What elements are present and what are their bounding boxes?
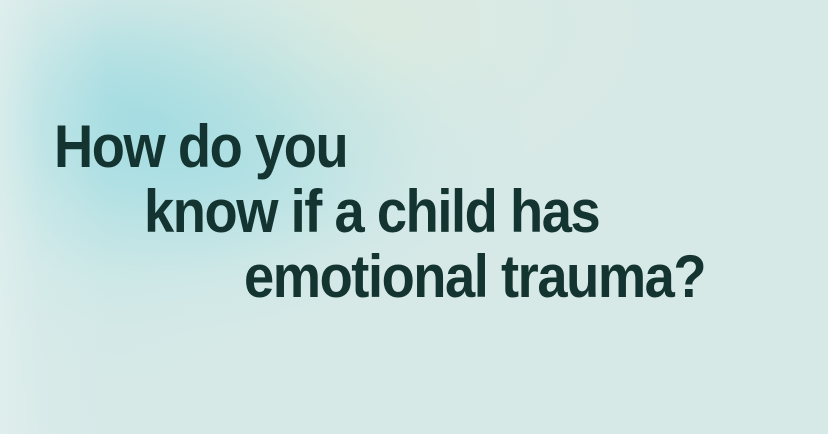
headline-line-3: emotional trauma? xyxy=(244,247,705,307)
headline-line-2: know if a child has xyxy=(144,182,599,242)
headline-line-1: How do you xyxy=(54,117,347,177)
headline-block: How do you know if a child has emotional… xyxy=(0,0,828,434)
quote-card-slide: How do you know if a child has emotional… xyxy=(0,0,828,434)
